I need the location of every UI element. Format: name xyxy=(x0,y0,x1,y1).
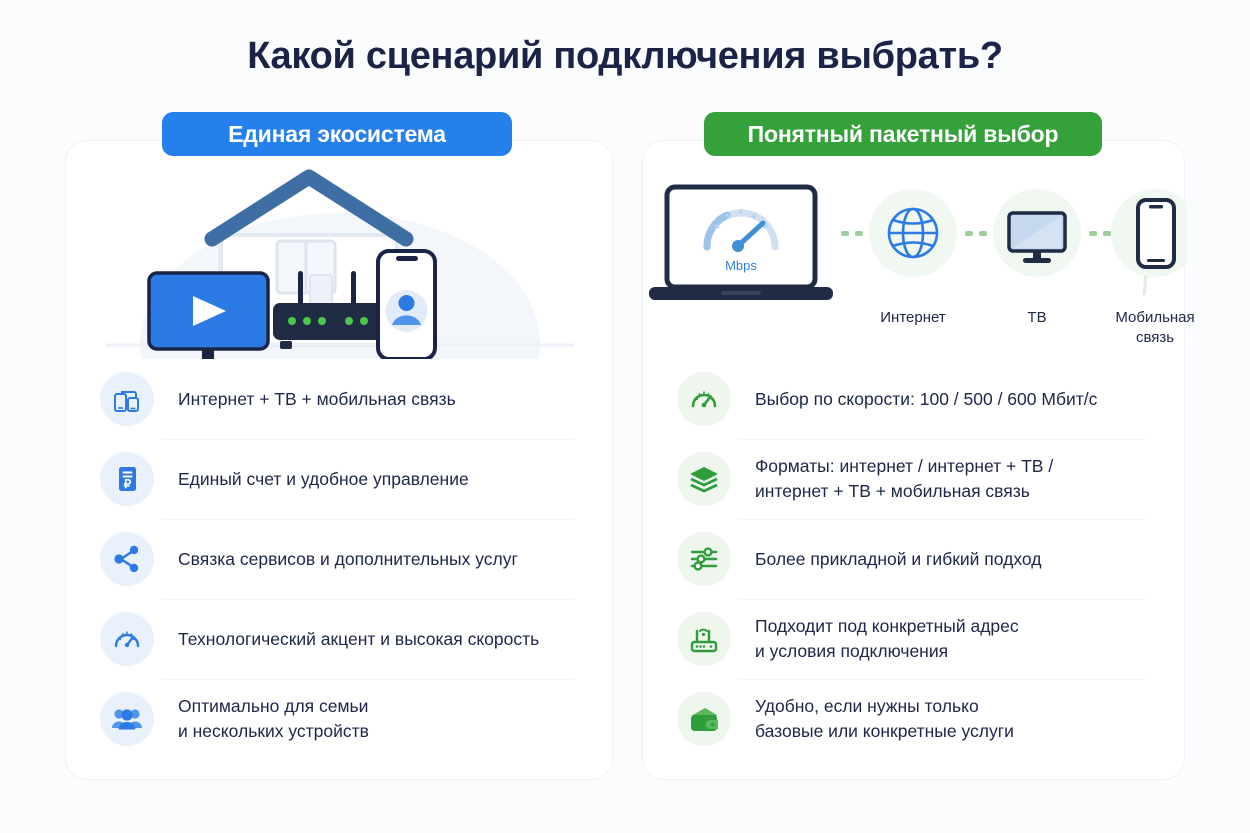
list-item[interactable]: Подходит под конкретный адрес и условия … xyxy=(669,599,1158,679)
router-wifi-icon xyxy=(677,612,731,666)
phone-node xyxy=(1111,189,1186,277)
list-item[interactable]: Более прикладной и гибкий подход xyxy=(669,519,1158,599)
wallet-icon xyxy=(677,692,731,746)
list-item[interactable]: ₽ Единый счет и удобное управление xyxy=(92,439,586,519)
list-item[interactable]: Удобно, если нужны только базовые или ко… xyxy=(669,679,1158,759)
list-item-label: Выбор по скорости: 100 / 500 / 600 Мбит/… xyxy=(755,387,1097,412)
list-item-label: Удобно, если нужны только базовые или ко… xyxy=(755,694,1014,744)
page-title: Какой сценарий подключения выбрать? xyxy=(0,35,1250,78)
badge-right-label: Понятный пакетный выбор xyxy=(748,121,1059,148)
home-ecosystem-illustration xyxy=(66,163,612,364)
family-group-icon xyxy=(100,692,154,746)
list-item[interactable]: Форматы: интернет / интернет + ТВ / инте… xyxy=(669,439,1158,519)
list-item-label: Единый счет и удобное управление xyxy=(178,467,469,492)
globe-node xyxy=(869,189,957,277)
list-item-label: Оптимально для семьи и нескольких устрой… xyxy=(178,694,369,744)
package-chain-illustration: Mbps xyxy=(643,163,1184,364)
receipt-ruble-icon: ₽ xyxy=(100,452,154,506)
laptop-illustration: Mbps xyxy=(649,187,833,300)
list-item[interactable]: Технологический акцент и высокая скорост… xyxy=(92,599,586,679)
badge-package-choice[interactable]: Понятный пакетный выбор xyxy=(704,112,1102,156)
list-item-label: Связка сервисов и дополнительных услуг xyxy=(178,547,518,572)
card-package-choice: Mbps xyxy=(642,140,1185,780)
node-label-internet: Интернет xyxy=(848,308,978,328)
card-unified-ecosystem: Интернет + ТВ + мобильная связь ₽ Единый… xyxy=(65,140,613,780)
laptop-screen-label: Mbps xyxy=(725,258,757,273)
list-item-label: Подходит под конкретный адрес и условия … xyxy=(755,614,1019,664)
left-feature-list: Интернет + ТВ + мобильная связь ₽ Единый… xyxy=(66,359,612,759)
badge-left-label: Единая экосистема xyxy=(228,121,446,148)
devices-icon xyxy=(100,372,154,426)
list-item-label: Технологический акцент и высокая скорост… xyxy=(178,627,539,652)
svg-text:₽: ₽ xyxy=(124,477,132,491)
smartphone-illustration xyxy=(378,251,435,359)
list-item-label: Интернет + ТВ + мобильная связь xyxy=(178,387,456,412)
layers-icon xyxy=(677,452,731,506)
badge-unified-ecosystem[interactable]: Единая экосистема xyxy=(162,112,512,156)
share-nodes-icon xyxy=(100,532,154,586)
sliders-icon xyxy=(677,532,731,586)
speedometer-icon xyxy=(677,372,731,426)
infographic-page: Какой сценарий подключения выбрать? Един… xyxy=(0,0,1250,833)
list-item-label: Форматы: интернет / интернет + ТВ / инте… xyxy=(755,454,1053,504)
list-item[interactable]: Интернет + ТВ + мобильная связь xyxy=(92,359,586,439)
list-item[interactable]: Выбор по скорости: 100 / 500 / 600 Мбит/… xyxy=(669,359,1158,439)
speedometer-icon xyxy=(100,612,154,666)
tv-node xyxy=(993,189,1081,277)
list-item[interactable]: Связка сервисов и дополнительных услуг xyxy=(92,519,586,599)
list-item[interactable]: Оптимально для семьи и нескольких устрой… xyxy=(92,679,586,759)
list-item-label: Более прикладной и гибкий подход xyxy=(755,547,1041,572)
tv-illustration xyxy=(149,273,268,359)
right-feature-list: Выбор по скорости: 100 / 500 / 600 Мбит/… xyxy=(643,359,1184,759)
node-label-mobile: Мобильная связь xyxy=(1090,308,1220,348)
node-label-tv: ТВ xyxy=(972,308,1102,328)
